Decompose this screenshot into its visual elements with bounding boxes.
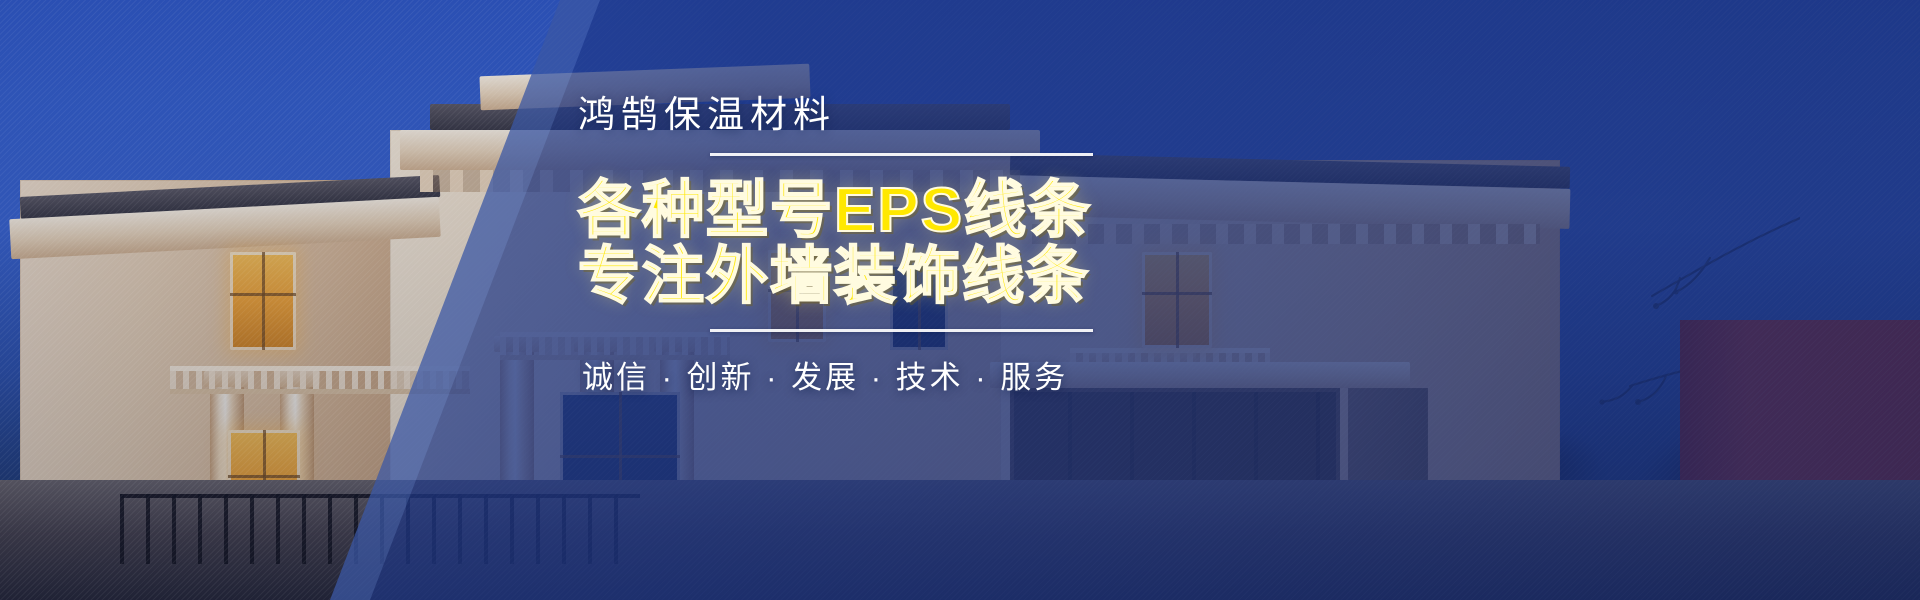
slogan: 诚信 · 创新 · 发展 · 技术 · 服务: [560, 352, 1260, 397]
brand-name: 鸿鹄保温材料: [560, 96, 1260, 133]
banner-stage: 鸿鹄保温材料 各种型号EPS线条 专注外墙装饰线条 诚信 · 创新 · 发展 ·…: [0, 0, 1920, 600]
headline-line-2: 专注外墙装饰线条: [578, 244, 1260, 310]
headline: 各种型号EPS线条 专注外墙装饰线条: [560, 178, 1260, 309]
divider-top: [710, 153, 1093, 156]
headline-line-1: 各种型号EPS线条: [578, 178, 1260, 244]
banner-content: 鸿鹄保温材料 各种型号EPS线条 专注外墙装饰线条 诚信 · 创新 · 发展 ·…: [560, 96, 1260, 397]
divider-bottom: [710, 329, 1093, 332]
